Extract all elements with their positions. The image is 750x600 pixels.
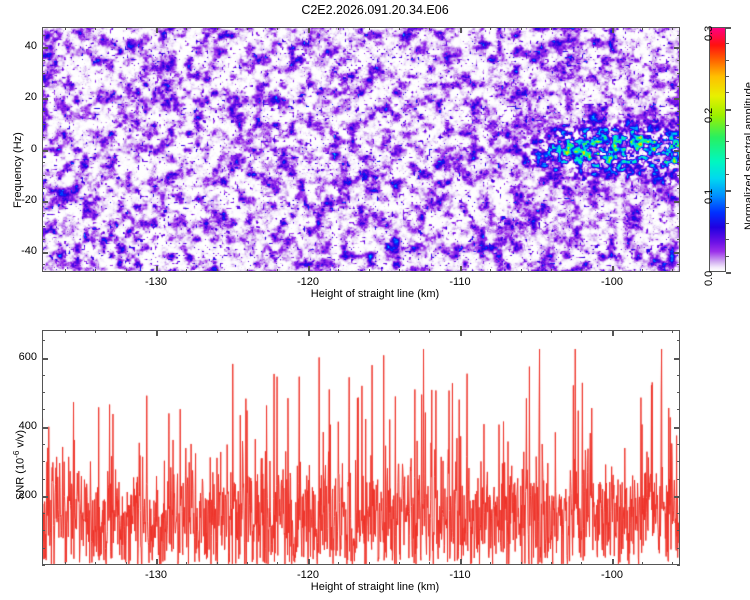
colorbar-label: Normalized spectral amplitude (743, 82, 750, 230)
axis-minor-tick (672, 562, 673, 565)
axis-minor-tick (551, 27, 552, 30)
axis-tick (42, 98, 48, 100)
axis-tick (156, 330, 158, 336)
axis-minor-tick (42, 461, 45, 462)
axis-minor-tick (247, 27, 248, 30)
axis-minor-tick (551, 330, 552, 333)
axis-minor-tick (551, 269, 552, 272)
axis-minor-tick (581, 562, 582, 565)
axis-minor-tick (677, 124, 680, 125)
axis-tick (674, 47, 680, 49)
axis-minor-tick (490, 562, 491, 565)
axis-minor-tick (42, 111, 45, 112)
colorbar-minor-tick (726, 60, 729, 61)
axis-tick (42, 358, 48, 360)
axis-minor-tick (217, 27, 218, 30)
colorbar-minor-tick (726, 223, 729, 224)
axis-minor-tick (490, 269, 491, 272)
colorbar-minor-tick (726, 207, 729, 208)
axis-tick (308, 559, 310, 565)
axis-minor-tick (186, 330, 187, 333)
axis-minor-tick (247, 269, 248, 272)
axis-minor-tick (42, 375, 45, 376)
axis-tick (674, 427, 680, 429)
axis-minor-tick (42, 226, 45, 227)
axis-tick-label: -130 (136, 276, 176, 288)
axis-tick-label: -110 (440, 276, 480, 288)
figure-root: C2E2.2026.091.20.34.E06 -130-120-110-100… (0, 0, 750, 600)
axis-minor-tick (677, 213, 680, 214)
axis-minor-tick (65, 562, 66, 565)
axis-minor-tick (42, 530, 45, 531)
colorbar-tick (726, 109, 731, 111)
axis-minor-tick (429, 27, 430, 30)
axis-tick (612, 330, 614, 336)
axis-minor-tick (65, 27, 66, 30)
axis-tick (308, 266, 310, 272)
axis-tick (42, 201, 48, 203)
axis-minor-tick (677, 375, 680, 376)
spectrogram-yaxis-label: Frequency (Hz) (12, 132, 24, 208)
axis-tick (42, 427, 48, 429)
axis-minor-tick (677, 86, 680, 87)
axis-minor-tick (677, 35, 680, 36)
axis-minor-tick (42, 35, 45, 36)
axis-minor-tick (42, 137, 45, 138)
axis-tick (156, 27, 158, 33)
colorbar-minor-tick (726, 125, 729, 126)
axis-tick-label: -120 (288, 276, 328, 288)
axis-minor-tick (677, 239, 680, 240)
axis-minor-tick (126, 330, 127, 333)
axis-minor-tick (672, 269, 673, 272)
colorbar-minor-tick (726, 76, 729, 77)
axis-minor-tick (277, 27, 278, 30)
axis-minor-tick (399, 330, 400, 333)
axis-minor-tick (581, 27, 582, 30)
colorbar-tick-label: 0.1 (703, 189, 715, 204)
axis-tick-label: -100 (592, 569, 632, 581)
axis-tick (674, 98, 680, 100)
axis-minor-tick (677, 565, 680, 566)
axis-minor-tick (677, 513, 680, 514)
axis-minor-tick (369, 562, 370, 565)
snr-yaxis-label-exponent: -6 (12, 451, 21, 458)
axis-minor-tick (677, 461, 680, 462)
axis-minor-tick (677, 73, 680, 74)
axis-tick (460, 559, 462, 565)
axis-minor-tick (677, 60, 680, 61)
axis-tick (674, 150, 680, 152)
axis-minor-tick (42, 124, 45, 125)
axis-tick (460, 27, 462, 33)
colorbar-minor-tick (726, 141, 729, 142)
axis-tick (612, 559, 614, 565)
axis-minor-tick (338, 269, 339, 272)
axis-minor-tick (42, 392, 45, 393)
figure-title: C2E2.2026.091.20.34.E06 (0, 3, 750, 17)
axis-minor-tick (42, 73, 45, 74)
snr-yaxis-label-main: SNR (10 (15, 458, 27, 500)
axis-minor-tick (42, 213, 45, 214)
axis-minor-tick (42, 444, 45, 445)
axis-minor-tick (677, 111, 680, 112)
axis-tick (612, 27, 614, 33)
axis-minor-tick (429, 562, 430, 565)
axis-minor-tick (338, 562, 339, 565)
axis-tick (156, 559, 158, 565)
axis-minor-tick (42, 479, 45, 480)
colorbar-tick-label: 0.3 (703, 26, 715, 41)
axis-minor-tick (126, 269, 127, 272)
axis-minor-tick (95, 27, 96, 30)
colorbar-tick (726, 190, 731, 192)
axis-tick (612, 266, 614, 272)
colorbar-minor-tick (726, 174, 729, 175)
axis-minor-tick (677, 226, 680, 227)
axis-minor-tick (672, 330, 673, 333)
axis-minor-tick (677, 340, 680, 341)
axis-minor-tick (42, 162, 45, 163)
axis-tick (42, 150, 48, 152)
axis-minor-tick (42, 239, 45, 240)
axis-minor-tick (677, 548, 680, 549)
axis-tick (42, 252, 48, 254)
axis-minor-tick (399, 269, 400, 272)
axis-minor-tick (126, 27, 127, 30)
colorbar (709, 27, 726, 272)
axis-minor-tick (247, 562, 248, 565)
axis-minor-tick (186, 27, 187, 30)
axis-tick (308, 27, 310, 33)
axis-minor-tick (677, 137, 680, 138)
colorbar-tick-label: 0.0 (703, 271, 715, 286)
axis-minor-tick (277, 330, 278, 333)
axis-minor-tick (642, 27, 643, 30)
axis-minor-tick (642, 330, 643, 333)
colorbar-minor-tick (726, 92, 729, 93)
axis-minor-tick (42, 548, 45, 549)
axis-minor-tick (642, 269, 643, 272)
colorbar-tick-label: 0.2 (703, 108, 715, 123)
axis-tick (42, 47, 48, 49)
axis-minor-tick (521, 330, 522, 333)
axis-minor-tick (429, 269, 430, 272)
axis-tick-label: 40 (4, 40, 37, 52)
snr-yaxis-label-tail: v/v) (15, 430, 27, 451)
axis-minor-tick (399, 562, 400, 565)
axis-tick (42, 496, 48, 498)
axis-minor-tick (42, 264, 45, 265)
axis-minor-tick (677, 479, 680, 480)
axis-minor-tick (429, 330, 430, 333)
axis-minor-tick (490, 27, 491, 30)
axis-tick (674, 252, 680, 254)
colorbar-tick (726, 27, 731, 29)
axis-minor-tick (399, 27, 400, 30)
colorbar-minor-tick (726, 158, 729, 159)
axis-minor-tick (217, 562, 218, 565)
axis-minor-tick (95, 269, 96, 272)
axis-minor-tick (42, 565, 45, 566)
axis-tick (460, 330, 462, 336)
axis-minor-tick (369, 269, 370, 272)
snr-axes-frame (42, 330, 680, 565)
axis-tick-label: -40 (4, 245, 37, 257)
spectrogram-xaxis-label: Height of straight line (km) (0, 288, 750, 300)
axis-tick-label: -110 (440, 569, 480, 581)
axis-minor-tick (490, 330, 491, 333)
axis-tick-label: -120 (288, 569, 328, 581)
axis-minor-tick (581, 330, 582, 333)
axis-minor-tick (42, 86, 45, 87)
axis-minor-tick (42, 409, 45, 410)
axis-minor-tick (677, 264, 680, 265)
axis-minor-tick (338, 27, 339, 30)
axis-tick-label: -130 (136, 569, 176, 581)
axis-minor-tick (277, 269, 278, 272)
axis-minor-tick (677, 188, 680, 189)
colorbar-minor-tick (726, 256, 729, 257)
axis-minor-tick (677, 175, 680, 176)
axis-minor-tick (677, 409, 680, 410)
axis-minor-tick (186, 562, 187, 565)
axis-minor-tick (369, 27, 370, 30)
axis-minor-tick (217, 269, 218, 272)
axis-tick-label: 600 (4, 351, 37, 363)
axis-tick (156, 266, 158, 272)
axis-tick-label: 20 (4, 91, 37, 103)
axis-minor-tick (521, 269, 522, 272)
axis-minor-tick (369, 330, 370, 333)
axis-minor-tick (677, 392, 680, 393)
axis-minor-tick (672, 27, 673, 30)
axis-minor-tick (677, 530, 680, 531)
axis-minor-tick (42, 175, 45, 176)
axis-minor-tick (642, 562, 643, 565)
axis-tick (674, 496, 680, 498)
colorbar-minor-tick (726, 43, 729, 44)
axis-tick (460, 266, 462, 272)
axis-tick-label: -100 (592, 276, 632, 288)
axis-minor-tick (42, 513, 45, 514)
axis-minor-tick (42, 340, 45, 341)
axis-minor-tick (677, 162, 680, 163)
axis-minor-tick (65, 330, 66, 333)
axis-minor-tick (677, 444, 680, 445)
axis-tick (674, 358, 680, 360)
axis-minor-tick (217, 330, 218, 333)
axis-minor-tick (42, 188, 45, 189)
colorbar-minor-tick (726, 239, 729, 240)
axis-minor-tick (65, 269, 66, 272)
axis-minor-tick (581, 269, 582, 272)
spectrogram-axes-frame (42, 27, 680, 272)
axis-tick (308, 330, 310, 336)
axis-minor-tick (338, 330, 339, 333)
axis-minor-tick (95, 562, 96, 565)
axis-minor-tick (521, 27, 522, 30)
axis-minor-tick (277, 562, 278, 565)
axis-minor-tick (247, 330, 248, 333)
axis-minor-tick (521, 562, 522, 565)
axis-tick (674, 201, 680, 203)
axis-minor-tick (551, 562, 552, 565)
axis-minor-tick (126, 562, 127, 565)
axis-minor-tick (42, 60, 45, 61)
snr-xaxis-label: Height of straight line (km) (0, 581, 750, 593)
colorbar-tick (726, 272, 731, 274)
axis-minor-tick (95, 330, 96, 333)
axis-minor-tick (186, 269, 187, 272)
snr-yaxis-label: SNR (10-6 v/v) (12, 430, 27, 500)
